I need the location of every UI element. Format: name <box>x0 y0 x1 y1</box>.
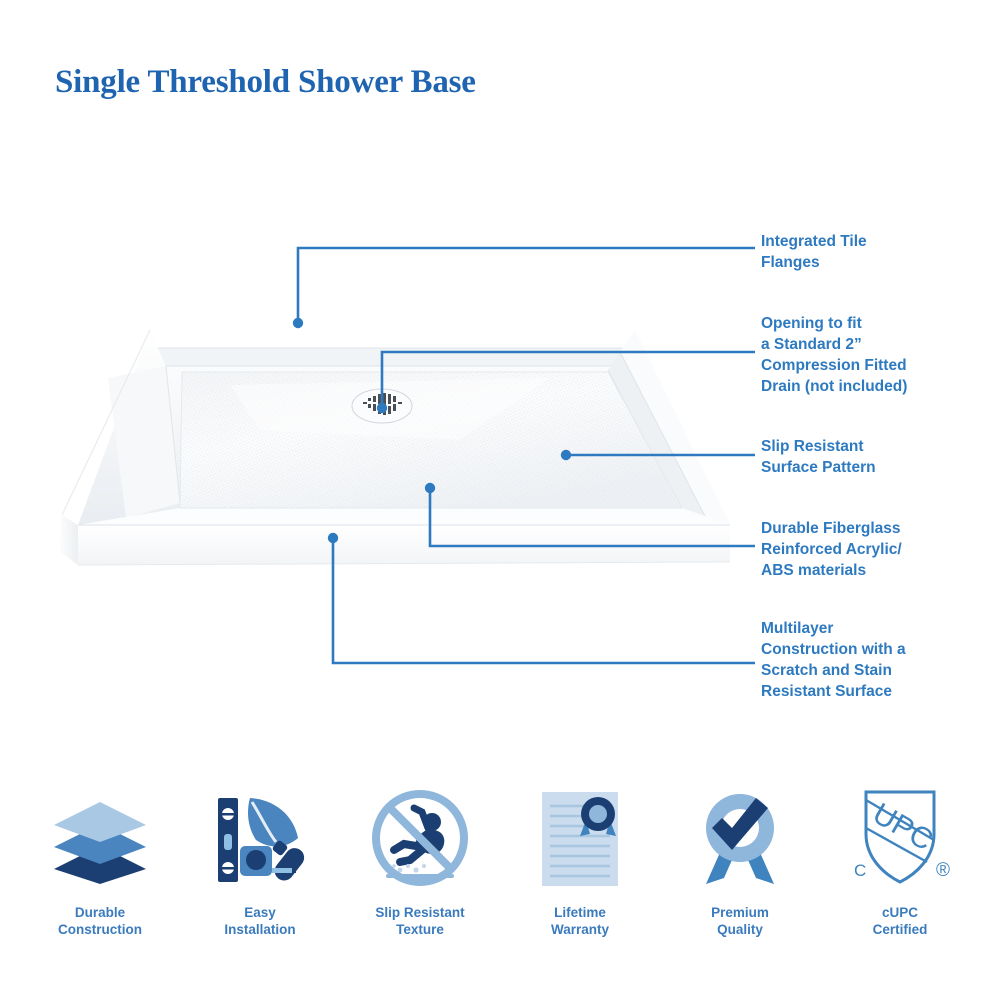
level-trowel-icon <box>206 778 314 898</box>
upc-left-mark: C <box>854 861 866 880</box>
feature-slip-resistant: Slip Resistant Texture <box>340 778 500 938</box>
no-slip-icon <box>366 778 474 898</box>
feature-label-cupc-certified: cUPC Certified <box>873 904 928 938</box>
feature-strip: Durable Construction <box>20 778 980 963</box>
upc-right-mark: ® <box>936 860 950 881</box>
page-title: Single Threshold Shower Base <box>55 64 476 101</box>
infographic-page: Single Threshold Shower Base <box>0 0 1000 1000</box>
product-illustration <box>30 290 750 590</box>
layers-icon <box>46 778 154 898</box>
callout-label-tile-flanges: Integrated Tile Flanges <box>761 231 867 273</box>
callout-label-materials: Durable Fiberglass Reinforced Acrylic/ A… <box>761 518 902 581</box>
feature-label-lifetime-warranty: Lifetime Warranty <box>551 904 609 938</box>
feature-label-easy-installation: Easy Installation <box>224 904 295 938</box>
callout-label-slip-surface: Slip Resistant Surface Pattern <box>761 436 876 478</box>
feature-label-durable-construction: Durable Construction <box>58 904 142 938</box>
drain-opening-graphic <box>352 389 412 423</box>
feature-lifetime-warranty: Lifetime Warranty <box>500 778 660 938</box>
feature-cupc-certified: UPC C ® cUPC Certified <box>820 778 980 938</box>
upc-shield-icon: UPC C ® <box>844 778 956 898</box>
certificate-icon <box>526 778 634 898</box>
feature-premium-quality: Premium Quality <box>660 778 820 938</box>
feature-easy-installation: Easy Installation <box>180 778 340 938</box>
check-ribbon-icon <box>686 778 794 898</box>
feature-label-slip-resistant: Slip Resistant Texture <box>375 904 464 938</box>
feature-label-premium-quality: Premium Quality <box>711 904 769 938</box>
feature-durable-construction: Durable Construction <box>20 778 180 938</box>
callout-label-drain-opening: Opening to fit a Standard 2” Compression… <box>761 313 907 397</box>
callout-label-multilayer: Multilayer Construction with a Scratch a… <box>761 618 906 702</box>
